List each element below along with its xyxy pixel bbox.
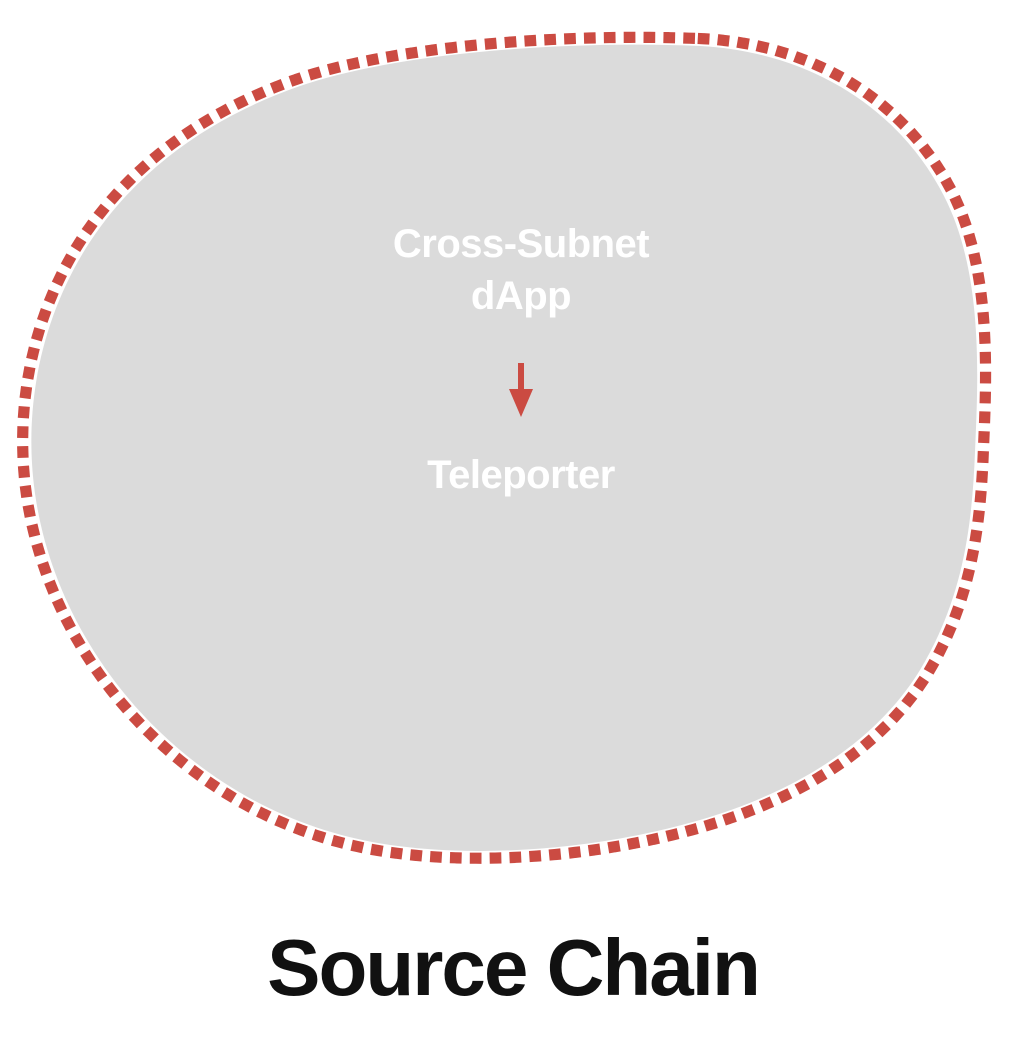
diagram-canvas: Cross-Subnet dApp Teleporter Source Chai… xyxy=(0,0,1026,1054)
page-title: Source Chain xyxy=(0,928,1026,1008)
node-cross-subnet-dapp[interactable]: Cross-Subnet dApp xyxy=(326,175,716,365)
node-teleporter[interactable]: Teleporter xyxy=(326,415,716,535)
node-cross-subnet-dapp-label: Cross-Subnet dApp xyxy=(340,218,702,322)
node-teleporter-label: Teleporter xyxy=(427,449,615,501)
arrowhead-down-icon xyxy=(509,389,533,417)
